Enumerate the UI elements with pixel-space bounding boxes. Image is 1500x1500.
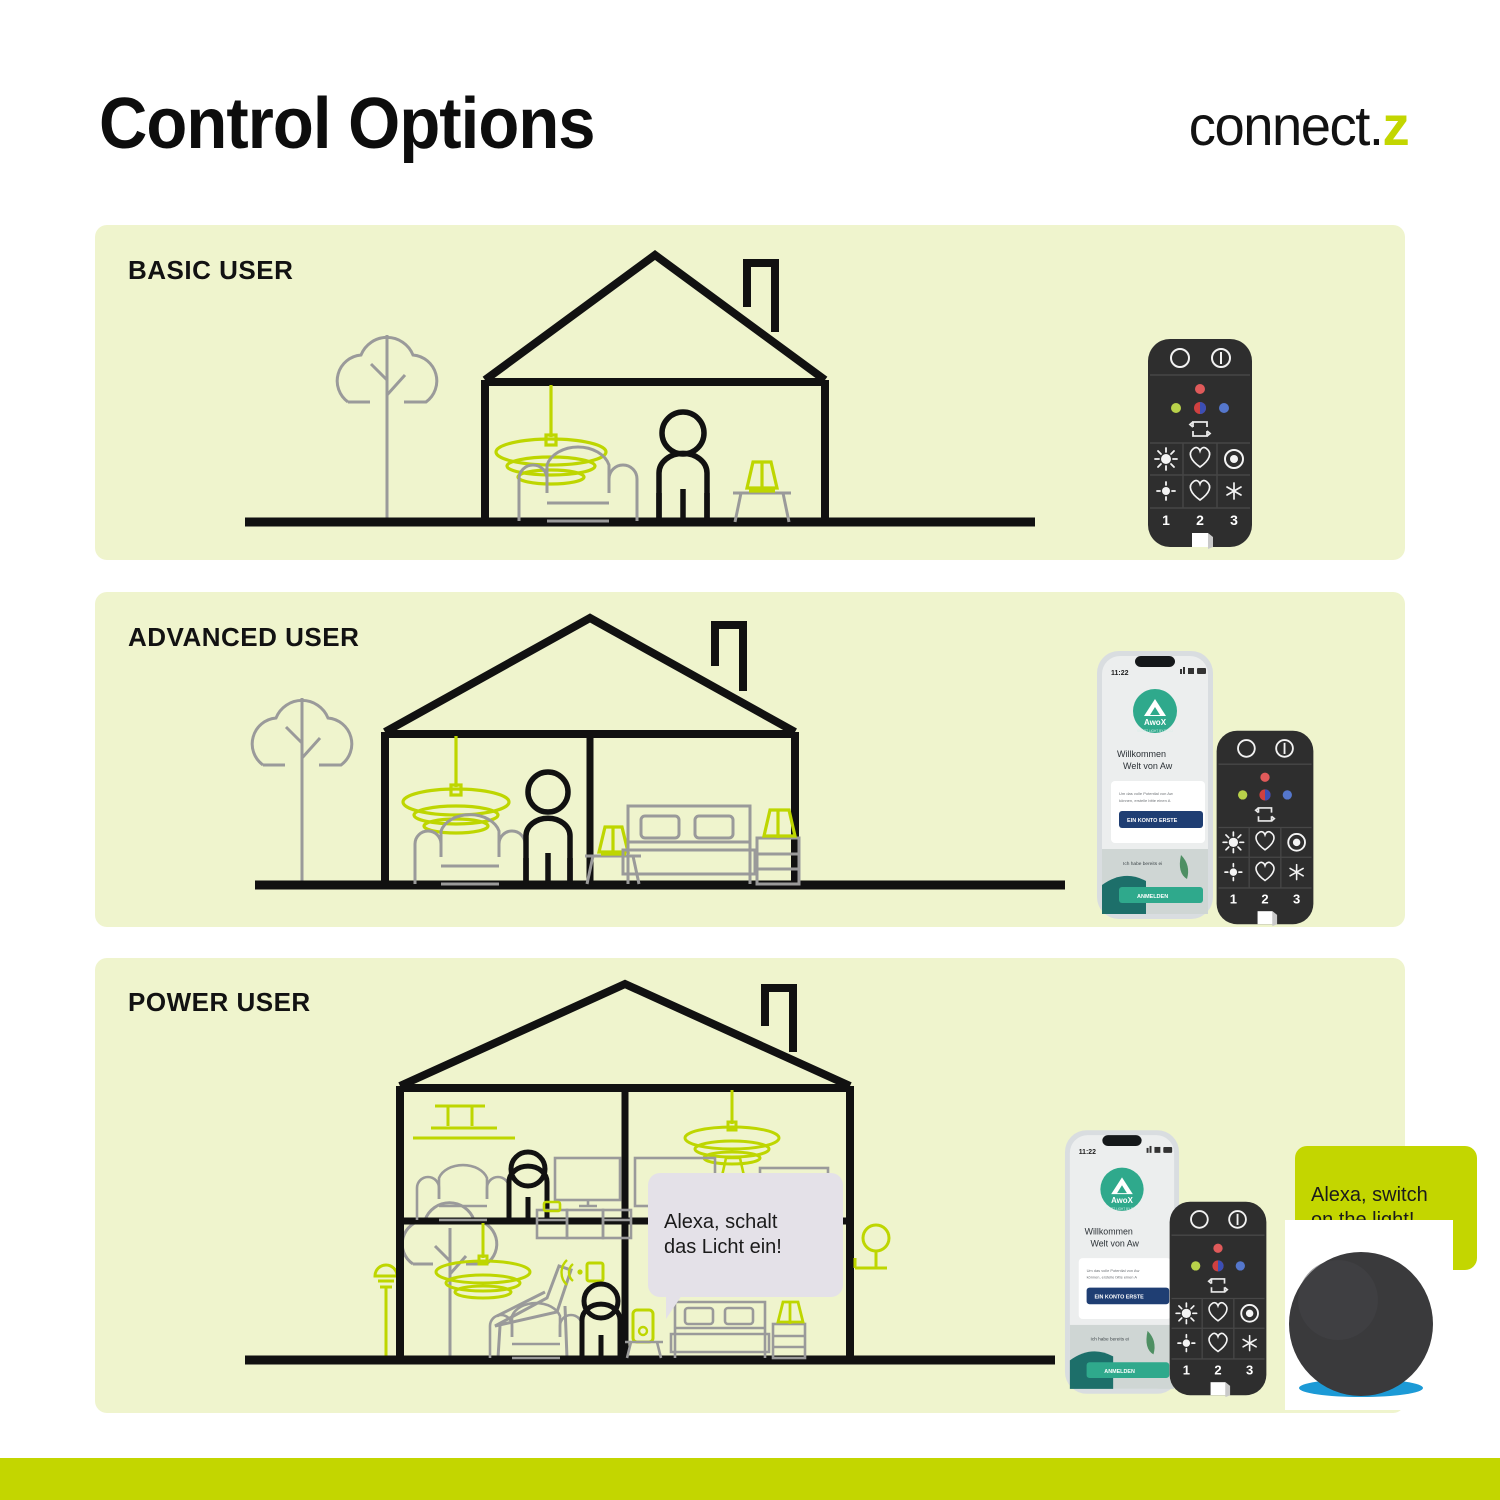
phone-body-1: Um das volle Potential von Aw: [1119, 791, 1173, 796]
phone-headline-1: Willkommen: [1117, 749, 1166, 759]
green-dot: [1191, 1261, 1200, 1270]
app-logo-sub: SMART LIGHT BY EGLO: [1104, 1207, 1140, 1211]
green-dot: [1238, 790, 1247, 799]
key-1: 1: [1183, 1363, 1190, 1378]
panel-power-user: POWER USER: [95, 958, 1405, 1413]
status-icons: [1180, 667, 1206, 674]
person-figure: [659, 412, 707, 521]
phone-body-2: können, erstelle bitte einen A: [1087, 1275, 1138, 1280]
app-logo-text: AwoX: [1144, 718, 1167, 727]
key-3: 3: [1230, 512, 1238, 528]
poster-page: Control Options connect.z BASIC USER: [0, 0, 1500, 1500]
table-lamp-icon: [747, 462, 777, 491]
scene-advanced-house: [245, 610, 1075, 910]
nightstand-icon: [773, 1324, 805, 1358]
status-icons: [1147, 1146, 1173, 1153]
phone-notch: [1135, 656, 1175, 667]
speech-bubble-de-text: Alexa, schalt das Licht ein!: [664, 1211, 782, 1258]
page-title: Control Options: [99, 88, 595, 160]
brand-logo: connect.z: [1189, 98, 1408, 154]
bed-icon: [623, 806, 755, 884]
login-label: ANMELDEN: [1104, 1369, 1135, 1375]
smartphone[interactable]: 11:22 AwoX SMART LIGHT BY EGLO Willkomme…: [1095, 649, 1215, 921]
brightness-up-icon: [1155, 448, 1177, 470]
create-account-label: EIN KONTO ERSTE: [1127, 818, 1178, 824]
red-dot: [1195, 384, 1205, 394]
remote-control[interactable]: 1 2 3: [1140, 335, 1260, 550]
bedside-lamp-icon: [764, 810, 795, 838]
key-1: 1: [1162, 512, 1170, 528]
scene-basic-house: [235, 245, 1045, 545]
key-2: 2: [1261, 892, 1268, 907]
remote-control[interactable]: 1 2 3: [1158, 1198, 1278, 1398]
phone-body-1: Um das volle Potential von Aw: [1087, 1268, 1140, 1273]
panel-advanced-user: ADVANCED USER: [95, 592, 1405, 927]
scene-book-icon: [1211, 1382, 1231, 1397]
login-label: ANMELDEN: [1137, 894, 1168, 900]
garden-light-icon: [375, 1265, 397, 1358]
green-dot: [1171, 403, 1181, 413]
person-figure: [526, 772, 570, 884]
bedside-lamp-icon: [778, 1302, 803, 1324]
phone-secondary-note: Ich habe bereits ei: [1123, 861, 1162, 867]
key-3: 3: [1246, 1363, 1253, 1378]
speech-bubble-de: Alexa, schalt das Licht ein!: [648, 1173, 843, 1297]
phone-secondary-note: Ich habe bereits ei: [1091, 1337, 1130, 1343]
ceiling-spot-icon: [413, 1106, 515, 1138]
phone-headline-1: Willkommen: [1085, 1226, 1133, 1236]
remote-control[interactable]: 1 2 3: [1205, 727, 1325, 927]
person-figure: [582, 1284, 620, 1358]
scene-book-icon: [1192, 533, 1213, 549]
phone-body-2: können, erstelle bitte einen A: [1119, 798, 1171, 803]
pendant-lamp-icon: [496, 385, 606, 484]
footer-bar: [0, 1458, 1500, 1500]
smart-speaker-icon: [633, 1310, 653, 1342]
key-1: 1: [1230, 892, 1237, 907]
app-logo-text: AwoX: [1111, 1196, 1133, 1205]
brightness-up-icon: [1176, 1303, 1196, 1323]
app-logo-sub: SMART LIGHT BY EGLO: [1137, 729, 1174, 733]
create-account-label: EIN KONTO ERSTE: [1094, 1294, 1144, 1300]
phone-notch: [1102, 1135, 1141, 1146]
smart-speaker[interactable]: [1263, 1220, 1453, 1410]
scene-book-icon: [1258, 911, 1278, 926]
tree-icon: [337, 335, 437, 520]
bed-icon: [671, 1302, 769, 1358]
blue-dot: [1236, 1261, 1245, 1270]
status-time: 11:22: [1079, 1149, 1096, 1156]
red-dot: [1260, 773, 1269, 782]
phone-headline-2: Welt von Aw: [1091, 1238, 1140, 1248]
pendant-lamp-icon: [685, 1090, 779, 1164]
brand-logo-accent: z: [1382, 94, 1408, 157]
brightness-up-icon: [1223, 832, 1243, 852]
red-dot: [1213, 1244, 1222, 1253]
key-2: 2: [1214, 1363, 1221, 1378]
tv-icon: [555, 1158, 620, 1206]
status-time: 11:22: [1111, 670, 1129, 677]
panel-basic-user: BASIC USER: [95, 225, 1405, 560]
tree-icon: [252, 698, 352, 883]
blue-dot: [1283, 790, 1292, 799]
key-2: 2: [1196, 512, 1204, 528]
speech-bubble-de-tail: [666, 1295, 682, 1319]
brand-logo-text: connect.: [1189, 94, 1383, 157]
key-3: 3: [1293, 892, 1300, 907]
phone-headline-2: Welt von Aw: [1123, 761, 1173, 771]
blue-dot: [1219, 403, 1229, 413]
header: Control Options connect.z: [0, 0, 1500, 210]
wall-lamp-icon: [855, 1225, 889, 1268]
